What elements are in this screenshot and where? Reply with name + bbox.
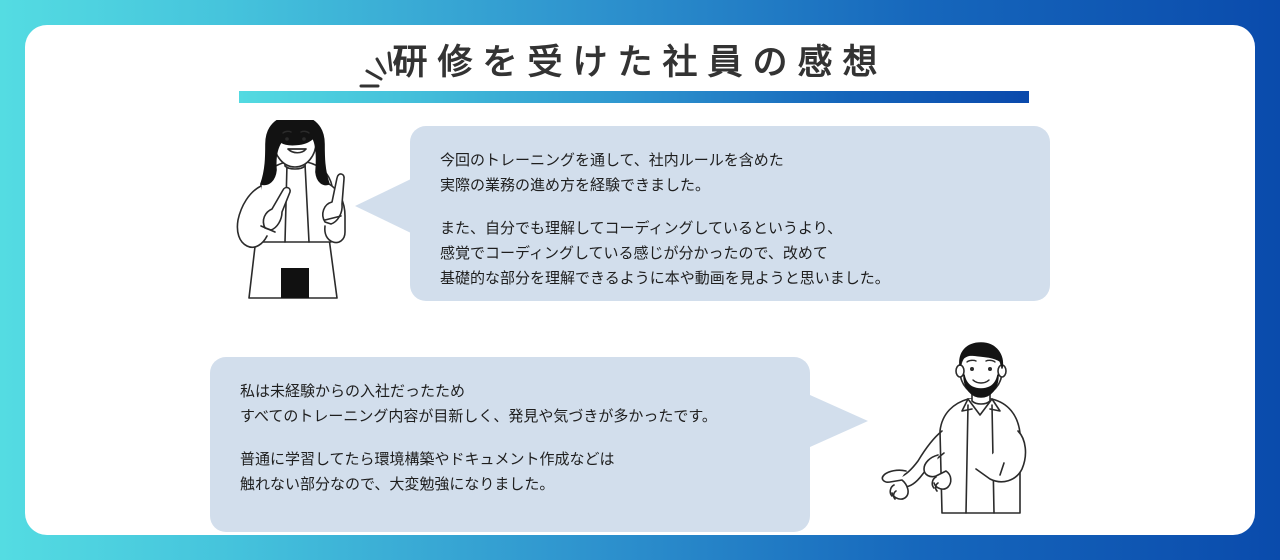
testimonial-row-2: 私は未経験からの入社だったため すべてのトレーニング内容が目新しく、発見や気づき… (25, 335, 1255, 525)
slide-canvas: 研修を受けた社員の感想 (0, 0, 1280, 560)
testimonial-row-1: 今回のトレーニングを通して、社内ルールを含めた 実際の業務の進め方を経験できまし… (25, 120, 1255, 310)
speech-bubble-1: 今回のトレーニングを通して、社内ルールを含めた 実際の業務の進め方を経験できまし… (410, 126, 1050, 301)
testimonial-2-paragraph-2: 普通に学習してたら環境構築やドキュメント作成などは 触れない部分なので、大変勉強… (240, 447, 780, 497)
title-block: 研修を受けた社員の感想 (25, 25, 1255, 120)
testimonial-1-paragraph-2: また、自分でも理解してコーディングしているというより、 感覚でコーディングしてい… (440, 216, 1020, 291)
speech-bubble-tail-1 (355, 178, 413, 234)
page-title: 研修を受けた社員の感想 (240, 39, 1040, 87)
title-underline-rule (239, 91, 1029, 103)
person-man-pointing-icon (880, 335, 1040, 515)
speech-bubble-tail-2 (810, 395, 868, 447)
content-card: 研修を受けた社員の感想 (25, 25, 1255, 535)
speech-bubble-2: 私は未経験からの入社だったため すべてのトレーニング内容が目新しく、発見や気づき… (210, 357, 810, 532)
testimonial-1-paragraph-1: 今回のトレーニングを通して、社内ルールを含めた 実際の業務の進め方を経験できまし… (440, 148, 1020, 198)
testimonial-2-paragraph-1: 私は未経験からの入社だったため すべてのトレーニング内容が目新しく、発見や気づき… (240, 379, 780, 429)
